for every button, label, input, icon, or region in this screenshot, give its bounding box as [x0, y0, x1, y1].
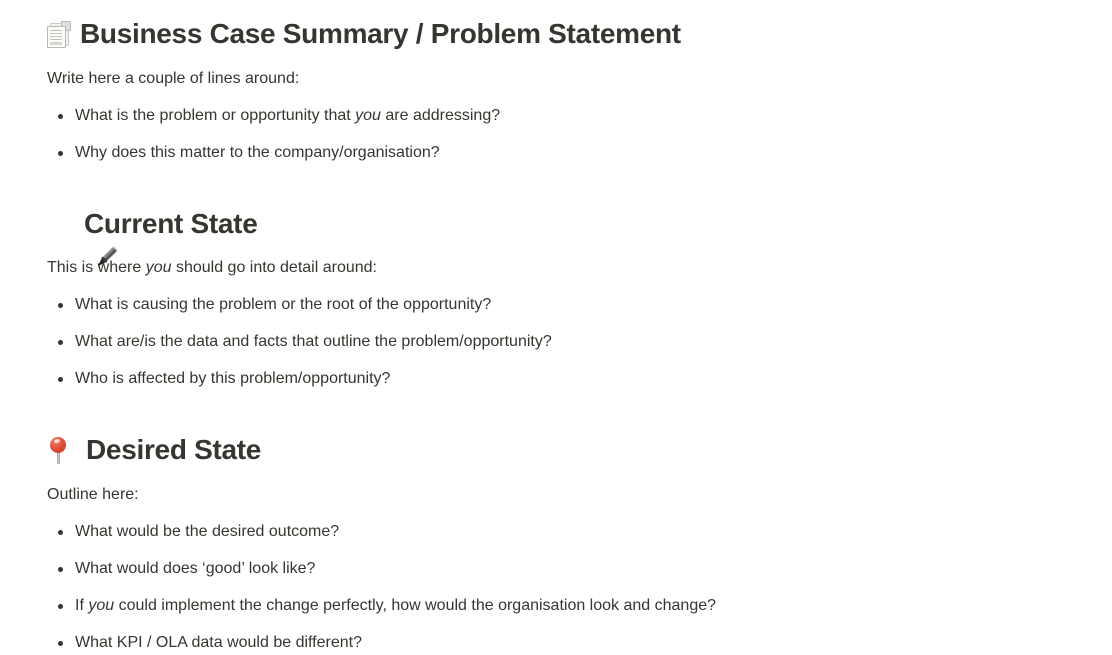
heading-business-case-summary: Business Case Summary / Problem Statemen…	[47, 0, 1112, 51]
list-item: What would does ‘good’ look like?	[47, 557, 1112, 581]
bullet-list-current-state: What is causing the problem or the root …	[47, 293, 1112, 391]
list-item-text-before: What is the problem or opportunity that	[75, 107, 355, 124]
list-item: What is causing the problem or the root …	[47, 293, 1112, 317]
lead-emphasis: you	[146, 259, 172, 276]
heading-current-state: Current State	[47, 165, 1112, 241]
list-item-emphasis: you	[355, 107, 381, 124]
lead-text-desired-state: Outline here:	[47, 467, 1112, 507]
heading-text: Desired State	[86, 433, 261, 467]
heading-text: Current State	[84, 207, 257, 241]
list-item: What is the problem or opportunity that …	[47, 104, 1112, 128]
list-item-text-before: Why does this matter to the company/orga…	[75, 144, 440, 161]
list-item: What KPI / OLA data would be different?	[47, 631, 1112, 655]
round-pushpin-icon	[47, 435, 69, 465]
list-item-text-before: What would be the desired outcome?	[75, 523, 339, 540]
list-item: What are/is the data and facts that outl…	[47, 330, 1112, 354]
list-item-text-before: What would does ‘good’ look like?	[75, 560, 315, 577]
list-item: What would be the desired outcome?	[47, 520, 1112, 544]
list-item-emphasis: you	[88, 597, 114, 614]
heading-desired-state: Desired State	[47, 391, 1112, 467]
lead-text-after: should go into detail around:	[172, 259, 377, 276]
pen-icon	[47, 208, 77, 238]
lead-text-business-case: Write here a couple of lines around:	[47, 51, 1112, 91]
lead-text-current-state: This is where you should go into detail …	[47, 240, 1112, 280]
list-item: Who is affected by this problem/opportun…	[47, 367, 1112, 391]
page-document-icon	[47, 20, 73, 48]
list-item-text-after: are addressing?	[381, 107, 500, 124]
list-item-text-before: Who is affected by this problem/opportun…	[75, 370, 390, 387]
bullet-list-business-case: What is the problem or opportunity that …	[47, 104, 1112, 165]
heading-text: Business Case Summary / Problem Statemen…	[80, 17, 681, 51]
list-item: Why does this matter to the company/orga…	[47, 141, 1112, 165]
list-item-text-before: What KPI / OLA data would be different?	[75, 634, 362, 651]
list-item-text-before: What are/is the data and facts that outl…	[75, 333, 552, 350]
bullet-list-desired-state: What would be the desired outcome? What …	[47, 520, 1112, 655]
list-item-text-after: could implement the change perfectly, ho…	[114, 597, 716, 614]
list-item-text-before: If	[75, 597, 88, 614]
document-page: Business Case Summary / Problem Statemen…	[0, 0, 1112, 655]
list-item: If you could implement the change perfec…	[47, 594, 1112, 618]
list-item-text-before: What is causing the problem or the root …	[75, 296, 491, 313]
